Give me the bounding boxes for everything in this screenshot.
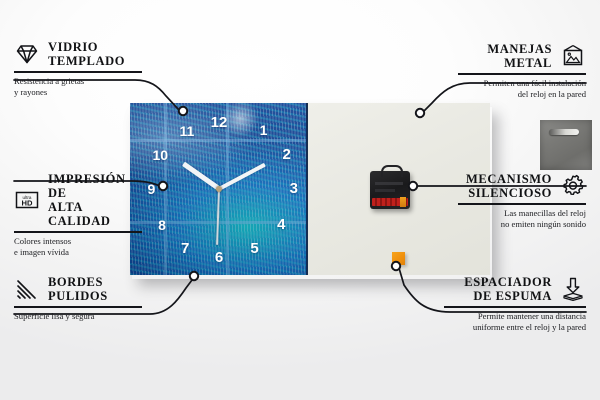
callout-rule (458, 203, 586, 205)
callout-description: Superficie lisa y segura (14, 311, 142, 322)
clock-numeral-12: 12 (211, 116, 228, 130)
callout-title: MANEJAS METAL (487, 42, 552, 70)
hanger-slot (549, 129, 579, 135)
mechanism-orange-chip (400, 197, 406, 207)
svg-text:HD: HD (22, 199, 33, 208)
clock-numeral-1: 1 (260, 123, 268, 137)
clock-center-cap (216, 186, 222, 192)
clock-numeral-11: 11 (180, 124, 195, 138)
callout-rule (444, 306, 586, 308)
callout-description: Permite mantener una distancia uniforme … (444, 311, 586, 333)
diamond-icon (14, 41, 40, 67)
clock-numeral-2: 2 (282, 148, 290, 162)
mechanism-detail (375, 182, 403, 185)
diagonal-lines-icon (14, 276, 40, 302)
callout-rule (14, 306, 142, 308)
clock-numeral-9: 9 (147, 182, 155, 196)
callout-rule (14, 71, 142, 73)
mechanism-hanging-loop (381, 165, 403, 177)
gear-icon (560, 173, 586, 199)
product-photo: 12 1 2 3 4 5 6 7 8 9 10 11 (130, 103, 490, 275)
clock-mechanism-box (370, 171, 410, 209)
callout-title: ESPACIADOR DE ESPUMA (464, 275, 552, 303)
callout-title: BORDES PULIDOS (48, 275, 108, 303)
infographic-canvas: 12 1 2 3 4 5 6 7 8 9 10 11 (0, 0, 600, 400)
callout-vidrio-templado[interactable]: VIDRIO TEMPLADO Resistencia a grietas y … (14, 40, 142, 98)
callout-description: Resistencia a grietas y rayones (14, 76, 142, 98)
callout-bordes-pulidos[interactable]: BORDES PULIDOS Superficie lisa y segura (14, 275, 142, 322)
clock-numeral-5: 5 (250, 242, 258, 256)
clock-numeral-7: 7 (181, 242, 189, 256)
callout-mecanismo-silencioso[interactable]: MECANISMO SILENCIOSO Las manecillas del … (458, 172, 586, 230)
clock-numeral-10: 10 (152, 148, 168, 162)
clock-front-face: 12 1 2 3 4 5 6 7 8 9 10 11 (130, 103, 308, 275)
callout-description: Permiten una fácil instalación del reloj… (458, 78, 586, 100)
mechanism-detail-2 (375, 189, 395, 192)
ultra-hd-icon: ultra HD (14, 187, 40, 213)
callout-impresion-alta-calidad[interactable]: ultra HD IMPRESIÓN DE ALTA CALIDAD Color… (14, 172, 142, 258)
callout-manejas-metal[interactable]: MANEJAS METAL Permiten una fácil instala… (458, 42, 586, 100)
callout-title: VIDRIO TEMPLADO (48, 40, 125, 68)
callout-title: MECANISMO SILENCIOSO (466, 172, 552, 200)
callout-rule (14, 231, 142, 233)
clock-numeral-4: 4 (277, 218, 285, 232)
clock-numeral-6: 6 (215, 251, 223, 265)
arrow-onto-layers-icon (560, 276, 586, 302)
callout-espaciador-de-espuma[interactable]: ESPACIADOR DE ESPUMA Permite mantener un… (444, 275, 586, 333)
clock-numeral-3: 3 (290, 182, 298, 196)
callout-description: Las manecillas del reloj no emiten ningú… (458, 208, 586, 230)
picture-frame-icon (560, 43, 586, 69)
clock-numeral-8: 8 (158, 218, 166, 232)
foam-spacer (392, 252, 405, 265)
callout-description: Colores intensos e imagen vívida (14, 236, 142, 258)
callout-rule (458, 73, 586, 75)
metal-hanger-plate (540, 120, 592, 170)
callout-title: IMPRESIÓN DE ALTA CALIDAD (48, 172, 142, 228)
